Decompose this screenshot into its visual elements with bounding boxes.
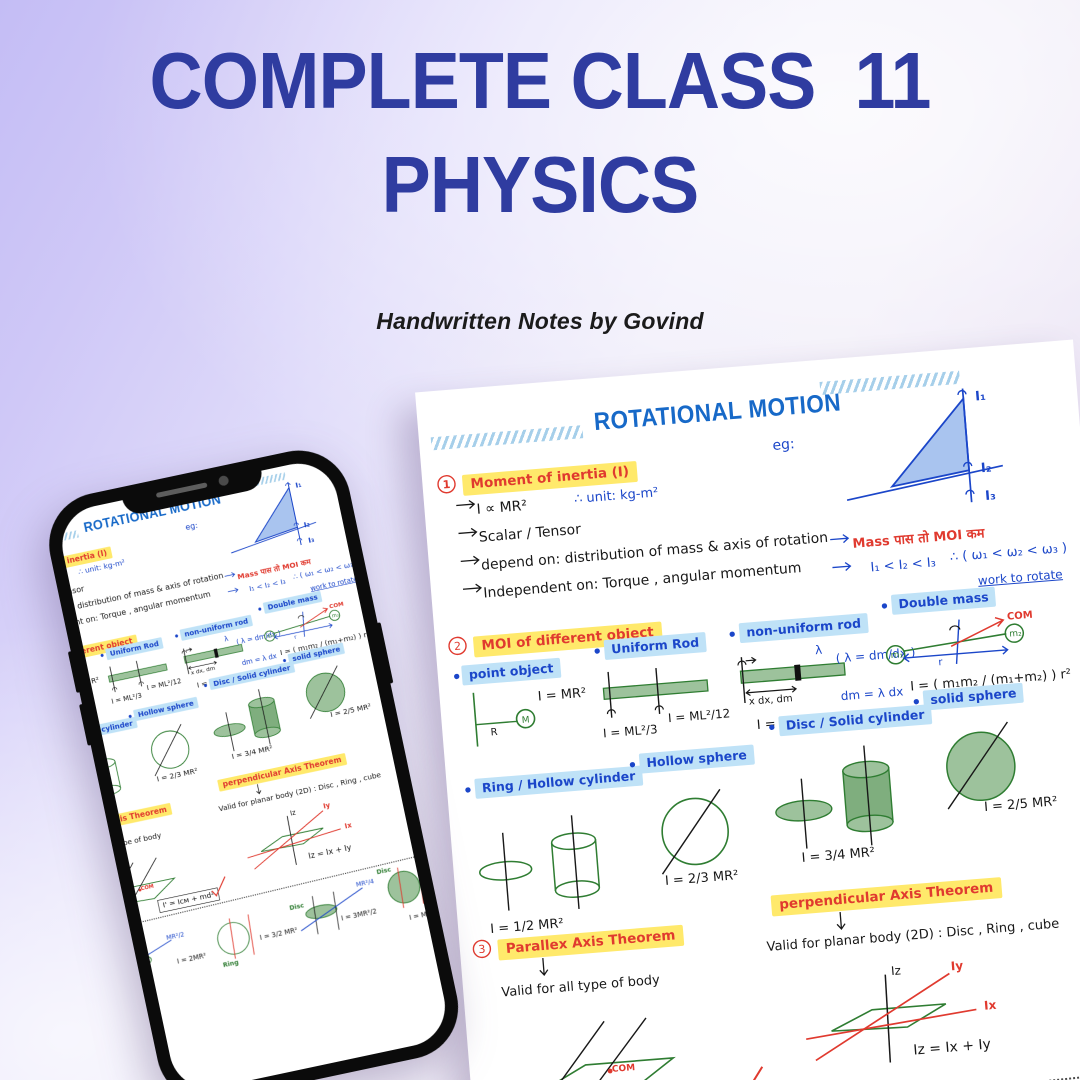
header-stripe-left	[431, 425, 584, 450]
obj-hollow-sphere-label: Hollow sphere	[639, 745, 755, 774]
bullet-dot-1: •	[451, 668, 462, 687]
obj-double-mass-m1: m₁	[890, 650, 903, 661]
bullet-dot-8: •	[911, 693, 922, 712]
bullet-dot-5: •	[462, 781, 473, 800]
ring-hollow-cylinder-diagram	[469, 799, 607, 919]
perpendicular-axis-diagram	[235, 793, 370, 880]
section-3-number: 3	[471, 938, 493, 965]
perp-axis-Iy: Iy	[322, 801, 330, 810]
obj-point-object-label: point object	[461, 658, 561, 686]
perp-axis-Iy: Iy	[950, 958, 963, 973]
obj-point-object-sub: R	[490, 727, 498, 739]
s1-note-work: work to rotate	[310, 575, 359, 593]
perp-axis-Iz: Iz	[890, 963, 901, 978]
s1-bullet-2: Scalar / Tensor	[478, 522, 581, 546]
svg-text:1: 1	[442, 478, 451, 492]
svg-text:3: 3	[478, 943, 486, 957]
perp-axis-Ix: Ix	[344, 821, 352, 830]
obj-nonuniform-rod-label: non-uniform rod	[739, 613, 869, 643]
perpendicular-axis-heading: perpendicular Axis Theorem	[771, 877, 1003, 916]
example-label-top: eg:	[185, 521, 199, 532]
earpiece-speaker-icon	[156, 482, 208, 498]
document-title: ROTATIONAL MOTION	[593, 388, 842, 437]
obj-disc-label: Disc / Solid cylinder	[778, 704, 932, 736]
obj-uniform-rod-formula: I = ML²/3	[602, 722, 658, 740]
section-2-number: 2	[447, 635, 469, 662]
s3-down-arrow	[535, 955, 557, 981]
obj-ring-label: Ring / Hollow cylinder	[474, 766, 643, 799]
bullet-dot-7: •	[766, 719, 777, 738]
s3-red-tick	[732, 1064, 775, 1080]
bullet-dot-4: •	[879, 597, 890, 616]
bullet-dot-2: •	[592, 642, 603, 661]
s1-note-arrows	[828, 529, 863, 591]
axis-label-I3: I₃	[985, 488, 997, 504]
perpendicular-axis-diagram	[792, 950, 1020, 1077]
point-object-diagram: M	[465, 683, 550, 753]
cover-heading: COMPLETE CLASS 11 PHYSICS	[0, 36, 1080, 229]
cover-subtitle: Handwritten Notes by Govind	[0, 308, 1080, 335]
svg-text:M: M	[521, 715, 530, 726]
s3-label-com: COM	[612, 1063, 636, 1075]
perpendicular-axis-validity: Valid for planar body (2D) : Disc , Ring…	[766, 917, 1060, 955]
s3-red-tick	[208, 874, 235, 901]
example-ring-2-shape: Ring	[222, 958, 239, 968]
axis-label-I2: I₂	[980, 461, 992, 477]
perp-axis-Ix: Ix	[984, 998, 997, 1013]
obj-double-mass-sub: r	[938, 657, 943, 668]
front-camera-icon	[218, 475, 230, 487]
notes-page[interactable]: ROTATIONAL MOTION 1 Moment of inertia (I…	[415, 340, 1080, 1080]
perp-down-arrow	[832, 909, 854, 935]
cover-title-line-1: COMPLETE CLASS 11	[43, 36, 1037, 126]
bullet-dot-3: •	[727, 625, 738, 644]
axis-label-I1: I₁	[975, 389, 987, 405]
obj-double-mass-label: Double mass	[891, 587, 997, 615]
svg-text:2: 2	[454, 640, 462, 654]
s1-note-work: work to rotate	[977, 567, 1063, 588]
obj-double-mass-m2: m₂	[1009, 629, 1022, 640]
obj-double-mass-com: COM	[1007, 610, 1034, 623]
solid-sphere-diagram	[286, 654, 371, 730]
cover-title-line-2: PHYSICS	[43, 140, 1037, 230]
s3-validity: Valid for all type of body	[501, 973, 660, 1001]
obj-ring-formula: I = 1/2 MR²	[490, 916, 564, 937]
s1-unit: ∴ unit: kg-m²	[574, 485, 659, 507]
bullet-dot-6: •	[627, 756, 638, 775]
obj-nonuniform-lambda: λ	[814, 643, 822, 658]
example-label-top: eg:	[772, 436, 795, 454]
disc-solid-cylinder-diagram	[767, 736, 916, 863]
